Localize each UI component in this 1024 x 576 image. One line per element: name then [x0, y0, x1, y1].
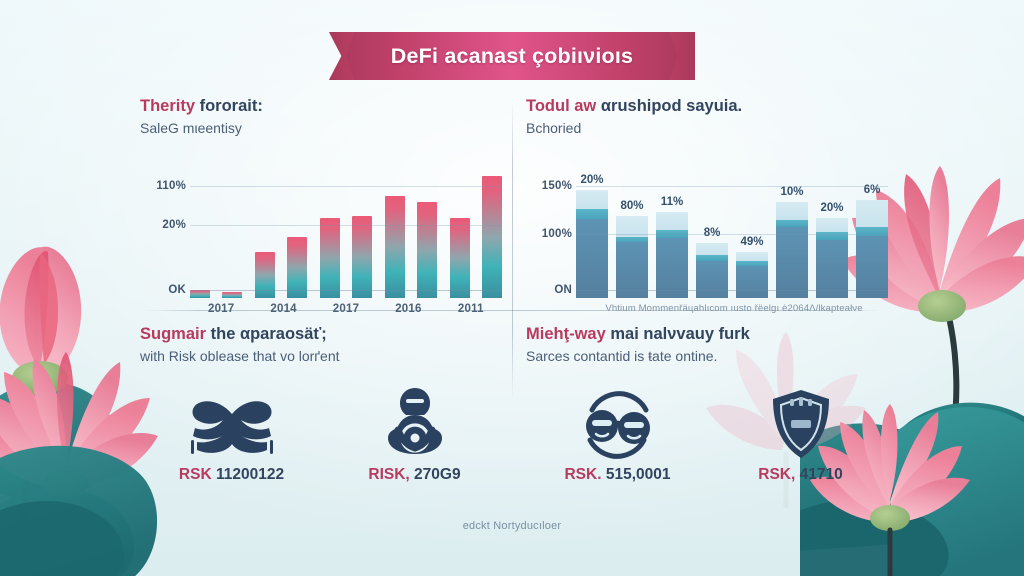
- bar-segment-bot: [736, 266, 768, 298]
- title-banner: DeFi acanast çobiıνioıs: [329, 32, 695, 80]
- quadrant-top-left: Therity fororait: SaleG mιeentisy 110%20…: [140, 96, 506, 137]
- stat-label: RSK 11200122: [179, 466, 284, 484]
- bar-segment-top: [736, 252, 768, 260]
- quadrant-bottom-left: Sugmair the αparaοsäť; with Risk oblease…: [140, 324, 506, 365]
- bar-segment-bot: [696, 261, 728, 298]
- x-axis-tick: 2011: [458, 303, 484, 315]
- stacked-bar: 20%: [576, 190, 608, 298]
- gridline: [190, 186, 502, 187]
- bar: [190, 290, 210, 298]
- bottom-left-heading-rest: the αparaοsäť;: [211, 325, 327, 343]
- bottom-left-stats: RSK 11200122 RIS: [140, 386, 506, 484]
- bottom-right-heading-accent: Miehţ-way: [526, 325, 606, 343]
- stacked-bar: 6%: [856, 200, 888, 298]
- x-axis-tick: 2016: [395, 303, 421, 315]
- axis-baseline: [576, 290, 888, 291]
- left-bar-chart: 110%20%OK 20172014201720162011: [140, 158, 506, 298]
- bar-data-label: 49%: [740, 236, 763, 248]
- gridline: [576, 186, 888, 187]
- title-banner-wrap: DeFi acanast çobiıνioıs: [0, 32, 1024, 80]
- stat-key: RSK: [179, 466, 212, 483]
- stat-key: RSK.: [564, 466, 601, 483]
- stat-label: RSK, 41710: [758, 466, 842, 484]
- shield-icon: [770, 386, 832, 460]
- bar-segment-mid: [576, 209, 608, 219]
- stat-value: 270G9: [414, 466, 461, 483]
- bar-segment-top: [696, 243, 728, 255]
- top-left-heading: Therity fororait:: [140, 96, 506, 116]
- y-axis-label: 100%: [542, 228, 572, 240]
- bar-segment-top: [816, 218, 848, 232]
- bar-segment-top: [856, 200, 888, 228]
- stat-value: 41710: [800, 466, 843, 483]
- bottom-left-subheading: with Risk oblease that vo lorґent: [140, 347, 506, 365]
- bar-segment-bot: [576, 219, 608, 298]
- left-chart-plot: [190, 158, 502, 298]
- bottom-right-stats: RSK. 515,0001 RSK,: [526, 386, 892, 484]
- stat-item: RSK. 515,0001: [543, 386, 693, 484]
- axis-baseline: [190, 290, 502, 291]
- stacked-bar: 20%: [816, 218, 848, 298]
- bar-segment-top: [576, 190, 608, 209]
- two-faces-cycle-icon: [578, 386, 658, 460]
- bar-data-label: 80%: [620, 200, 643, 212]
- bottom-right-heading-rest: mai nalνvauy furk: [610, 325, 749, 343]
- meditating-figure-icon: [378, 386, 452, 460]
- bar-data-label: 10%: [780, 186, 803, 198]
- bar-data-label: 11%: [661, 196, 683, 208]
- left-chart-y-axis: 110%20%OK: [140, 158, 186, 298]
- y-axis-label: 150%: [542, 180, 572, 192]
- x-axis-tick: 2014: [270, 303, 296, 315]
- bar: [352, 216, 372, 298]
- x-axis-tick: 2017: [333, 303, 359, 315]
- top-left-heading-rest: fororait:: [200, 97, 263, 115]
- right-chart-plot: 20%80%11%8%49%10%20%6%: [576, 158, 888, 298]
- top-right-heading-rest: αrushipod sayuia.: [601, 97, 742, 115]
- bottom-right-subheading: Sarces contantid is ŧate ontine.: [526, 347, 892, 365]
- stat-value: 11200122: [216, 466, 284, 483]
- lotus-hands-icon: [189, 386, 275, 460]
- stat-label: RSK. 515,0001: [564, 466, 670, 484]
- right-chart-note: Vhtium Mommenřäцahlıcom ıusto řёelɡı ė20…: [576, 303, 892, 314]
- top-right-heading: Todul aw αrushipod sayuia.: [526, 96, 892, 116]
- y-axis-label: OK: [168, 284, 186, 296]
- quadrant-bottom-right: Miehţ-way mai nalνvauy furk Sarces conta…: [526, 324, 892, 365]
- top-left-subheading: SaleG mιeentisy: [140, 119, 506, 137]
- bar: [385, 196, 405, 298]
- y-axis-label: ON: [554, 284, 572, 296]
- stat-label: RISK, 270G9: [368, 466, 460, 484]
- stat-item: RSK 11200122: [157, 386, 307, 484]
- bar: [482, 176, 502, 298]
- stacked-bar: 11%: [656, 212, 688, 298]
- left-chart-bars: [190, 158, 502, 298]
- top-left-heading-accent: Therity: [140, 97, 195, 115]
- right-chart-y-axis: 150%100%ON: [526, 158, 572, 298]
- bottom-left-heading: Sugmair the αparaοsäť;: [140, 324, 506, 344]
- bar: [320, 218, 340, 298]
- bar-segment-top: [656, 212, 688, 230]
- stacked-bar: 49%: [736, 252, 768, 298]
- stat-item: RISK, 270G9: [340, 386, 490, 484]
- bottom-left-heading-accent: Sugmair: [140, 325, 206, 343]
- bar-data-label: 20%: [820, 202, 843, 214]
- stat-key: RSK,: [758, 466, 795, 483]
- footer-caption: edckt Nortyducıloer: [0, 520, 1024, 532]
- bottom-right-heading: Miehţ-way mai nalνvauy furk: [526, 324, 892, 344]
- x-axis-tick: 2017: [208, 303, 234, 315]
- bar-segment-top: [776, 202, 808, 220]
- top-right-heading-accent: Todul aw: [526, 97, 596, 115]
- stacked-bar: 10%: [776, 202, 808, 298]
- y-axis-label: 110%: [156, 180, 186, 192]
- bar: [450, 218, 470, 298]
- y-axis-label: 20%: [162, 219, 186, 231]
- bar: [255, 252, 275, 298]
- gridline: [190, 225, 502, 226]
- stat-value: 515,0001: [606, 466, 671, 483]
- right-stacked-chart: 150%100%ON 20%80%11%8%49%10%20%6% Vhtium…: [526, 158, 892, 298]
- gridline: [576, 234, 888, 235]
- content-grid: Therity fororait: SaleG mιeentisy 110%20…: [140, 96, 884, 514]
- bar: [417, 202, 437, 298]
- stat-item: RSK, 41710: [726, 386, 876, 484]
- stacked-bar: 80%: [616, 216, 648, 298]
- bar-segment-bot: [776, 227, 808, 298]
- stat-key: RISK,: [368, 466, 409, 483]
- left-chart-x-axis: 20172014201720162011: [190, 298, 502, 318]
- quadrant-top-right: Todul aw αrushipod sayuia. Bchoried 150%…: [526, 96, 892, 137]
- bar-segment-mid: [776, 220, 808, 227]
- vertical-divider: [512, 100, 513, 400]
- right-chart-bars: 20%80%11%8%49%10%20%6%: [576, 158, 888, 298]
- top-right-subheading: Bchoried: [526, 119, 892, 137]
- bar-data-label: 20%: [580, 174, 603, 186]
- banner-title: DeFi acanast çobiıνioıs: [391, 44, 633, 69]
